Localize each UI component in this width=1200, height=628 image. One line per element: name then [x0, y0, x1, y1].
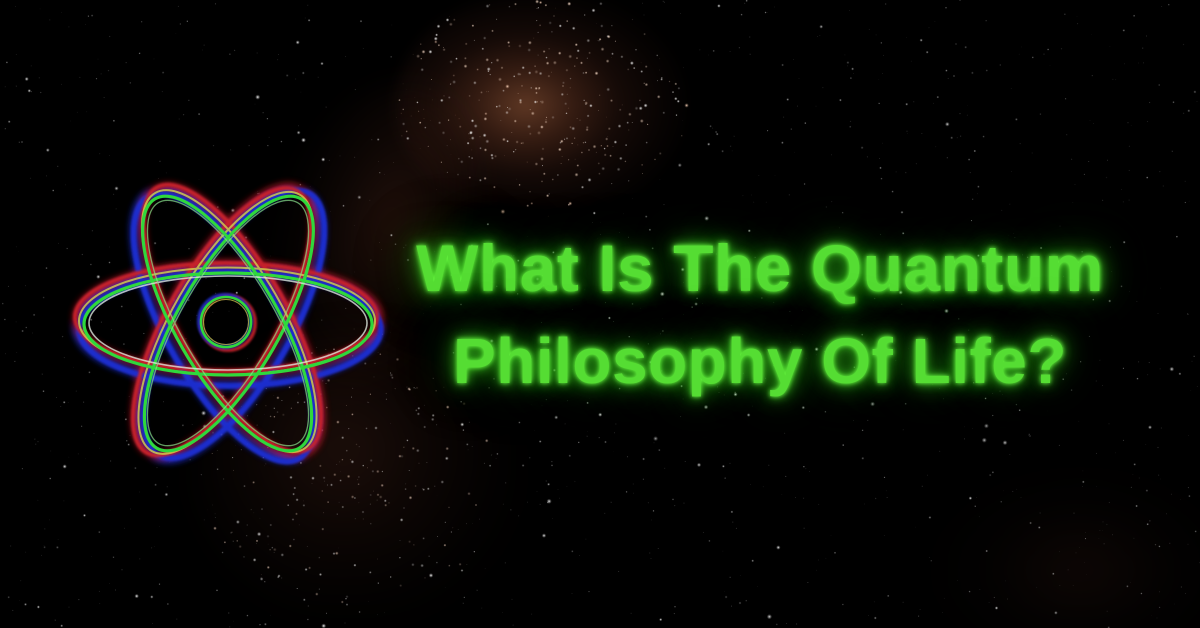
page-title: What Is The Quantum Philosophy Of Life?	[340, 222, 1180, 408]
nebula-cluster-edge	[930, 470, 1200, 628]
nucleus	[199, 295, 255, 350]
headline-line-1: What Is The Quantum	[340, 222, 1180, 315]
headline-line-2: Philosophy Of Life?	[340, 315, 1180, 408]
banner-canvas: What Is The Quantum Philosophy Of Life?	[0, 0, 1200, 628]
nebula-cluster-main	[395, 0, 685, 220]
